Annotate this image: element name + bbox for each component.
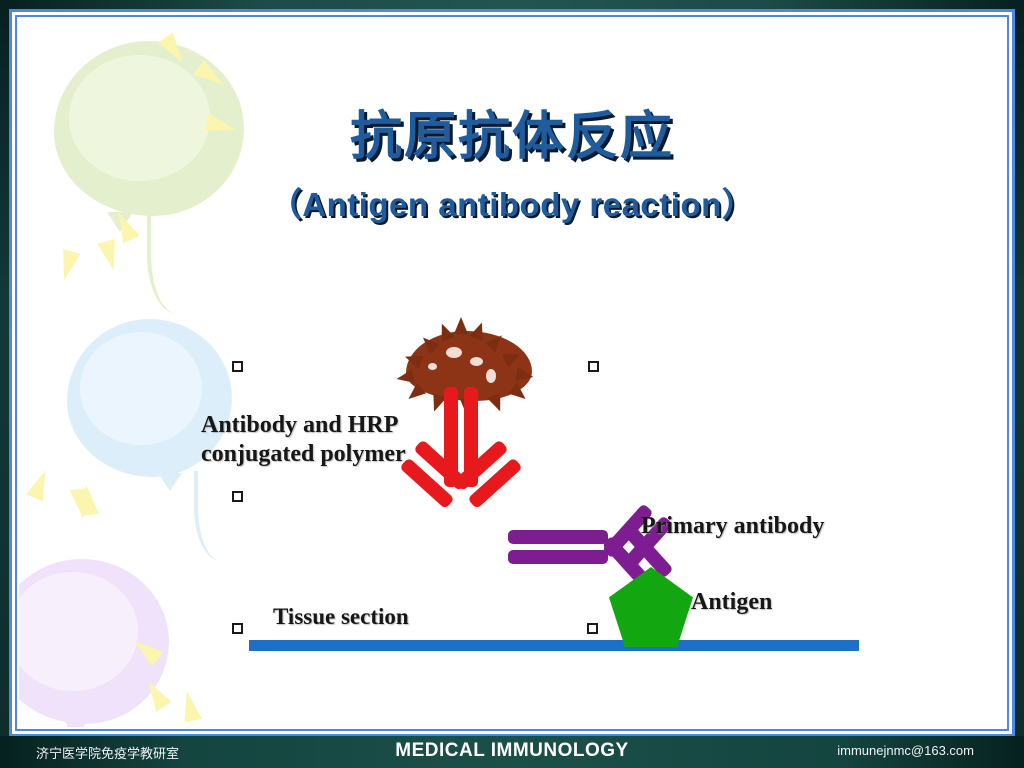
hrp-spike xyxy=(395,369,414,386)
ray-icon xyxy=(26,467,54,502)
hrp-highlight xyxy=(446,347,462,358)
antigen-antibody-diagram[interactable]: Antibody and HRP conjugated polymer Prim… xyxy=(179,299,899,679)
label-tissue-section: Tissue section xyxy=(273,604,409,630)
footer-email: immunejnmc@163.com xyxy=(837,743,974,758)
hrp-spike xyxy=(515,367,534,384)
selection-handle-top-center[interactable] xyxy=(588,361,599,372)
ray-icon xyxy=(97,239,122,273)
antibody-stem xyxy=(508,530,608,544)
slide-canvas: 抗原抗体反应 （Antigen antibody reaction） xyxy=(19,19,1005,727)
hrp-spike xyxy=(454,317,468,334)
slide-title-block: 抗原抗体反应 （Antigen antibody reaction） xyxy=(19,109,1005,226)
selection-handle-bottom-left[interactable] xyxy=(232,623,243,634)
selection-handle-middle-left[interactable] xyxy=(232,491,243,502)
balloon-gloss xyxy=(19,572,138,691)
label-antigen: Antigen xyxy=(691,589,772,616)
ray-icon xyxy=(55,249,80,283)
page-title-chinese: 抗原抗体反应 xyxy=(19,109,1005,166)
hrp-highlight xyxy=(470,357,483,366)
selection-handle-top-left[interactable] xyxy=(232,361,243,372)
selection-handle-bottom-center[interactable] xyxy=(587,623,598,634)
page-title-english: （Antigen antibody reaction） xyxy=(19,178,1005,226)
ray-icon xyxy=(178,689,202,722)
antibody-stem xyxy=(508,550,608,564)
balloon-string-purple xyxy=(67,719,107,727)
label-primary-antibody: Primary antibody xyxy=(641,513,824,540)
slide-footer: 济宁医学院免疫学教研室 MEDICAL IMMUNOLOGY immunejnm… xyxy=(0,736,1024,768)
slide: 抗原抗体反应 （Antigen antibody reaction） xyxy=(0,0,1024,768)
label-line-1: Antibody and HRP xyxy=(201,411,406,440)
hrp-highlight xyxy=(428,363,437,370)
ray-icon xyxy=(140,677,171,712)
hrp-highlight xyxy=(486,369,496,383)
label-line-2: conjugated polymer xyxy=(201,440,406,469)
tissue-section-bar xyxy=(249,640,859,651)
label-antibody-hrp-polymer: Antibody and HRP conjugated polymer xyxy=(201,411,406,470)
